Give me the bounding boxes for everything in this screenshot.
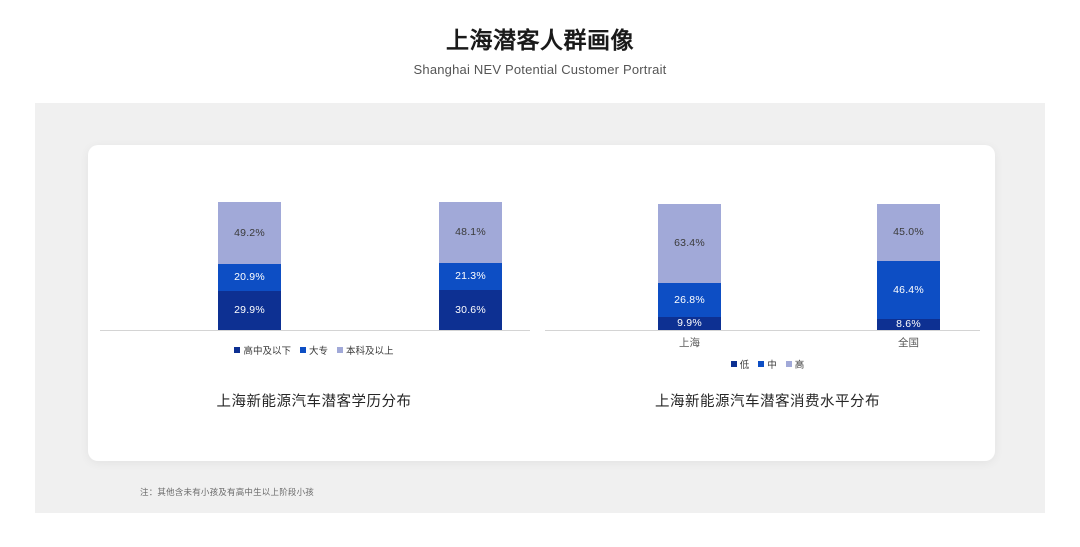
bar-segment-consumption-1-bottom[interactable]: 8.6%	[877, 319, 940, 330]
bar-column-consumption-0[interactable]: 63.4% 26.8% 9.9%	[658, 204, 721, 330]
bar-segment-education-1-mid[interactable]: 21.3%	[439, 263, 502, 290]
legend-label-education-0: 高中及以下	[243, 343, 291, 357]
content-panel: 49.2% 20.9% 29.9% 48.1% 21.3%	[35, 103, 1045, 513]
legend-consumption: 低 中 高	[540, 357, 995, 371]
bar-segment-education-1-bottom[interactable]: 30.6%	[439, 290, 502, 330]
legend-item-education-1[interactable]: 大专	[300, 343, 328, 357]
bar-label-education-1-mid: 21.3%	[455, 271, 486, 282]
chart-caption-consumption: 上海新能源汽车潜客消费水平分布	[540, 390, 995, 411]
legend-item-consumption-1[interactable]: 中	[758, 357, 777, 371]
x-axis-line-consumption	[545, 330, 980, 331]
legend-label-consumption-2: 高	[795, 357, 805, 371]
page-header: 上海潜客人群画像 Shanghai NEV Potential Customer…	[0, 0, 1080, 77]
legend-label-consumption-0: 低	[740, 357, 750, 371]
legend-label-education-1: 大专	[309, 343, 328, 357]
bar-label-education-1-top: 48.1%	[455, 227, 486, 238]
bar-segment-education-0-bottom[interactable]: 29.9%	[218, 291, 281, 330]
page-subtitle: Shanghai NEV Potential Customer Portrait	[0, 55, 1080, 77]
bar-segment-consumption-1-top[interactable]: 45.0%	[877, 204, 940, 261]
bar-column-education-1[interactable]: 48.1% 21.3% 30.6%	[439, 202, 502, 330]
legend-education: 高中及以下 大专 本科及以上	[88, 343, 540, 357]
legend-item-consumption-2[interactable]: 高	[786, 357, 805, 371]
category-label-consumption-1: 全国	[877, 335, 940, 350]
bar-segment-education-1-top[interactable]: 48.1%	[439, 202, 502, 263]
bar-label-consumption-1-top: 45.0%	[893, 227, 924, 238]
legend-swatch-icon	[786, 361, 792, 367]
legend-item-education-2[interactable]: 本科及以上	[337, 343, 394, 357]
bar-label-education-1-bottom: 30.6%	[455, 305, 486, 316]
bar-segment-consumption-0-top[interactable]: 63.4%	[658, 204, 721, 283]
legend-swatch-icon	[300, 347, 306, 353]
bar-segment-education-0-mid[interactable]: 20.9%	[218, 264, 281, 291]
bar-label-consumption-0-bottom: 9.9%	[677, 318, 702, 329]
bar-column-consumption-1[interactable]: 45.0% 46.4% 8.6%	[877, 204, 940, 330]
bar-label-education-0-bottom: 29.9%	[234, 305, 265, 316]
legend-item-consumption-0[interactable]: 低	[731, 357, 750, 371]
bar-label-consumption-0-mid: 26.8%	[674, 295, 705, 306]
legend-label-education-2: 本科及以上	[346, 343, 394, 357]
charts-card: 49.2% 20.9% 29.9% 48.1% 21.3%	[88, 145, 995, 461]
bar-label-education-0-mid: 20.9%	[234, 272, 265, 283]
legend-swatch-icon	[731, 361, 737, 367]
bar-column-education-0[interactable]: 49.2% 20.9% 29.9%	[218, 202, 281, 330]
bar-segment-consumption-0-mid[interactable]: 26.8%	[658, 283, 721, 317]
bar-segment-consumption-0-bottom[interactable]: 9.9%	[658, 317, 721, 330]
chart-caption-education: 上海新能源汽车潜客学历分布	[88, 390, 540, 411]
footnote: 注：其他含未有小孩及有高中生以上阶段小孩	[140, 486, 314, 498]
bar-label-education-0-top: 49.2%	[234, 228, 265, 239]
plot-area-consumption: 63.4% 26.8% 9.9% 上海 45.0% 46.4%	[540, 145, 995, 335]
bar-segment-consumption-1-mid[interactable]: 46.4%	[877, 261, 940, 319]
bar-label-consumption-0-top: 63.4%	[674, 238, 705, 249]
chart-education-distribution: 49.2% 20.9% 29.9% 48.1% 21.3%	[88, 145, 540, 461]
x-axis-line-education	[100, 330, 530, 331]
chart-consumption-distribution: 63.4% 26.8% 9.9% 上海 45.0% 46.4%	[540, 145, 995, 461]
legend-swatch-icon	[337, 347, 343, 353]
bar-label-consumption-1-mid: 46.4%	[893, 285, 924, 296]
legend-label-consumption-1: 中	[767, 357, 777, 371]
bar-segment-education-0-top[interactable]: 49.2%	[218, 202, 281, 264]
legend-swatch-icon	[234, 347, 240, 353]
page-title: 上海潜客人群画像	[0, 0, 1080, 55]
legend-swatch-icon	[758, 361, 764, 367]
category-label-consumption-0: 上海	[658, 335, 721, 350]
plot-area-education: 49.2% 20.9% 29.9% 48.1% 21.3%	[88, 145, 540, 335]
bar-label-consumption-1-bottom: 8.6%	[896, 319, 921, 330]
legend-item-education-0[interactable]: 高中及以下	[234, 343, 291, 357]
